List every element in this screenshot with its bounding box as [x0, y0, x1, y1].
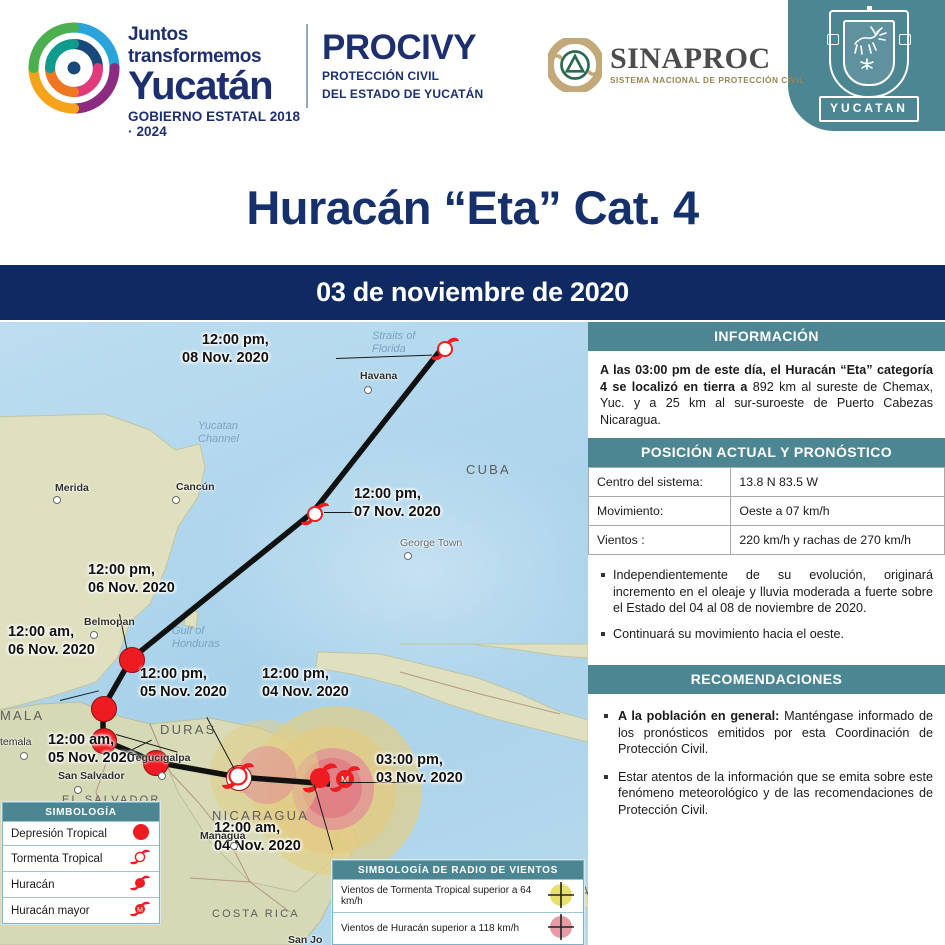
country-label-honduras: DURAS [160, 722, 217, 737]
emblem-nub-right-icon [899, 34, 911, 45]
track-label-03nov-date: 03 Nov. 2020 [376, 770, 463, 788]
tropical-storm-symbol-07nov[interactable] [298, 497, 332, 531]
gov-line1: Juntos transformemos [128, 24, 308, 68]
posicion-key-centro: Centro del sistema: [589, 468, 731, 497]
legend-simbologia-heading: SIMBOLOGÍA [3, 803, 159, 821]
city-dot-guatemala-city [20, 752, 28, 760]
info-panel: INFORMACIÓN A las 03:00 pm de este día, … [588, 322, 945, 945]
hurricane-icon [129, 872, 151, 897]
wind-radius-hurricane-icon [547, 913, 575, 944]
yucatan-government-logo [28, 22, 120, 114]
legend-radio-heading: SIMBOLOGÍA DE RADIO DE VIENTOS [333, 861, 583, 879]
svg-text:M: M [137, 907, 143, 914]
water-label-yucatan-channel: Yucatan Channel [198, 420, 239, 446]
posicion-heading: POSICIÓN ACTUAL Y PRONÓSTICO [588, 438, 945, 467]
track-label-05nov-pm: 12:00 pm, 05 Nov. 2020 [140, 666, 227, 701]
legend-row-huracan: Huracán [3, 871, 159, 897]
emblem-shield-icon [829, 10, 909, 98]
legend-row-huracan-mayor: Huracán mayor M [3, 897, 159, 923]
header-divider [306, 24, 308, 108]
sinaproc-name: SINAPROC [610, 44, 805, 74]
track-label-07nov: 12:00 pm, 07 Nov. 2020 [354, 486, 441, 521]
track-label-06nov-am-time: 12:00 am, [8, 624, 95, 642]
list-item: Estar atentos de la información que se e… [600, 769, 933, 819]
track-label-06nov-am-date: 06 Nov. 2020 [8, 642, 95, 660]
gov-line2: Yucatán [128, 65, 308, 107]
list-item: A la población en general: Manténgase in… [600, 708, 933, 758]
list-item: Independientemente de su evolución, orig… [600, 567, 933, 617]
city-dot-belmopan [90, 631, 98, 639]
legend-row-tormenta-tropical: Tormenta Tropical [3, 845, 159, 871]
recomendacion-1-bold: A la población en general: [618, 709, 779, 723]
track-label-06nov-am: 12:00 am, 06 Nov. 2020 [8, 624, 95, 659]
major-hurricane-icon: M [129, 898, 151, 923]
header: Juntos transformemos Yucatán GOBIERNO ES… [0, 0, 945, 150]
legend-radio-de-vientos: SIMBOLOGÍA DE RADIO DE VIENTOS Vientos d… [332, 860, 584, 945]
track-label-07nov-time: 12:00 pm, [354, 486, 441, 504]
track-label-05nov-pm-time: 12:00 pm, [140, 666, 227, 684]
informacion-body: A las 03:00 pm de este día, el Huracán “… [588, 351, 945, 438]
track-label-08nov-date: 08 Nov. 2020 [182, 350, 269, 368]
legend-label-depresion-tropical: Depresión Tropical [11, 823, 107, 845]
sinaproc-sub: SISTEMA NACIONAL DE PROTECCIÓN CIVIL [610, 77, 805, 85]
track-label-08nov-time: 12:00 pm, [182, 332, 269, 350]
list-item: Continuará su movimiento hacia el oeste. [600, 626, 933, 643]
major-hurricane-symbol-current[interactable]: M [326, 760, 364, 798]
city-label-san-jose: San Jo [288, 934, 322, 945]
country-label-costa-rica: COSTA RICA [212, 908, 300, 920]
city-dot-havana [364, 386, 372, 394]
emblem-deer-icon [847, 26, 887, 72]
svg-text:M: M [341, 775, 349, 786]
posicion-key-movimiento: Movimiento: [589, 497, 731, 526]
track-label-05nov-am-time: 12:00 am, [48, 732, 135, 750]
city-label-tegucigalpa: Tegucigalpa [130, 752, 190, 764]
gov-line3: GOBIERNO ESTATAL 2018 · 2024 [128, 109, 308, 139]
tropical-storm-icon [129, 846, 151, 871]
water-label-gulf-l1: Gulf of [172, 625, 220, 638]
country-label-guatemala: MALA [0, 708, 44, 723]
track-node-06nov-1200am[interactable] [91, 696, 117, 722]
city-label-guatemala-city: temala [0, 736, 32, 748]
posicion-key-vientos: Vientos : [589, 526, 731, 555]
track-label-06nov-pm-time: 12:00 pm, [88, 562, 175, 580]
emblem-nub-left-icon [827, 34, 839, 45]
recomendacion-2-text: Estar atentos de la información que se e… [618, 770, 933, 817]
water-label-yucatan-l2: Channel [198, 433, 239, 446]
city-dot-merida [53, 496, 61, 504]
country-label-nicaragua: NICARAGUA [212, 808, 309, 823]
track-label-03nov: 03:00 pm, 03 Nov. 2020 [376, 752, 463, 787]
table-row: Centro del sistema: 13.8 N 83.5 W [589, 468, 945, 497]
track-label-05nov-pm-date: 05 Nov. 2020 [140, 684, 227, 702]
posicion-value-movimiento: Oeste a 07 km/h [731, 497, 945, 526]
water-label-straits-l1: Straits of [372, 330, 415, 343]
track-label-06nov-pm: 12:00 pm, 06 Nov. 2020 [88, 562, 175, 597]
city-label-san-salvador: San Salvador [58, 770, 125, 782]
city-label-cancun: Cancún [176, 481, 215, 493]
legend-row-vientos-huracan: Vientos de Huracán superior a 118 km/h [333, 912, 583, 944]
legend-label-huracan: Huracán [11, 874, 54, 896]
posicion-table: Centro del sistema: 13.8 N 83.5 W Movimi… [588, 467, 945, 555]
page-title: Huracán “Eta” Cat. 4 [0, 150, 945, 265]
water-label-straits-of-florida: Straits of Florida [372, 330, 415, 356]
notas-body: Independientemente de su evolución, orig… [588, 555, 945, 665]
track-label-04nov-pm-time: 12:00 pm, [262, 666, 349, 684]
sinaproc-mark-icon [548, 38, 602, 92]
tropical-depression-icon [131, 822, 151, 845]
government-wordmark: Juntos transformemos Yucatán GOBIERNO ES… [128, 24, 308, 139]
water-label-straits-l2: Florida [372, 343, 415, 356]
recomendaciones-heading: RECOMENDACIONES [588, 665, 945, 694]
procivy-name: PROCIVY [322, 30, 483, 66]
track-label-04nov-pm: 12:00 pm, 04 Nov. 2020 [262, 666, 349, 701]
notas-list: Independientemente de su evolución, orig… [600, 567, 933, 642]
legend-row-depresion-tropical: Depresión Tropical [3, 821, 159, 845]
track-label-06nov-pm-date: 06 Nov. 2020 [88, 580, 175, 598]
legend-row-vientos-tormenta: Vientos de Tormenta Tropical superior a … [333, 879, 583, 912]
city-label-merida: Merida [55, 482, 89, 494]
city-label-george-town: George Town [400, 537, 462, 549]
city-label-havana: Havana [360, 370, 397, 382]
recomendaciones-body: A la población en general: Manténgase in… [588, 694, 945, 839]
procivy-sub2: DEL ESTADO DE YUCATÁN [322, 87, 483, 102]
leader-07nov [324, 512, 358, 513]
table-row: Movimiento: Oeste a 07 km/h [589, 497, 945, 526]
table-row: Vientos : 220 km/h y rachas de 270 km/h [589, 526, 945, 555]
city-dot-san-salvador [74, 786, 82, 794]
tropical-storm-symbol-04nov[interactable] [218, 756, 258, 796]
procivy-wordmark: PROCIVY PROTECCIÓN CIVIL DEL ESTADO DE Y… [322, 30, 483, 102]
country-label-cuba: CUBA [466, 462, 511, 477]
track-label-05nov-am: 12:00 am, 05 Nov. 2020 [48, 732, 135, 767]
tropical-storm-symbol-08nov[interactable] [428, 332, 462, 366]
water-label-gulf-l2: Honduras [172, 638, 220, 651]
water-label-gulf-of-honduras: Gulf of Honduras [172, 625, 220, 651]
track-label-03nov-time: 03:00 pm, [376, 752, 463, 770]
city-label-managua: Managua [200, 830, 246, 842]
infographic-page: Juntos transformemos Yucatán GOBIERNO ES… [0, 0, 945, 945]
track-label-08nov: 12:00 pm, 08 Nov. 2020 [182, 332, 269, 367]
procivy-sub1: PROTECCIÓN CIVIL [322, 69, 483, 84]
city-dot-george-town [404, 552, 412, 560]
legend-label-tormenta-tropical: Tormenta Tropical [11, 848, 102, 870]
emblem-banner-label: YUCATAN [819, 96, 919, 122]
sinaproc-logo: SINAPROC SISTEMA NACIONAL DE PROTECCIÓN … [548, 38, 805, 92]
wind-radius-storm-icon [547, 881, 575, 912]
date-banner: 03 de noviembre de 2020 [0, 265, 945, 320]
track-label-07nov-date: 07 Nov. 2020 [354, 504, 441, 522]
track-label-05nov-am-date: 05 Nov. 2020 [48, 750, 135, 768]
yucatan-state-emblem: YUCATAN [817, 8, 917, 128]
hurricane-track-map[interactable]: M 12:00 pm, 08 Nov. 2020 12:00 pm, 07 No… [0, 322, 588, 945]
recomendaciones-list: A la población en general: Manténgase in… [600, 708, 933, 818]
city-dot-cancun [172, 496, 180, 504]
city-dot-managua [230, 842, 238, 850]
legend-label-vientos-huracan: Vientos de Huracán superior a 118 km/h [341, 918, 519, 939]
legend-simbologia: SIMBOLOGÍA Depresión Tropical Tormenta T… [2, 802, 160, 924]
track-label-04nov-pm-date: 04 Nov. 2020 [262, 684, 349, 702]
city-label-belmopan: Belmopan [84, 616, 135, 628]
legend-label-vientos-tormenta: Vientos de Tormenta Tropical superior a … [341, 880, 547, 912]
posicion-value-centro: 13.8 N 83.5 W [731, 468, 945, 497]
water-label-yucatan-l1: Yucatan [198, 420, 239, 433]
city-dot-tegucigalpa [158, 772, 166, 780]
posicion-value-vientos: 220 km/h y rachas de 270 km/h [731, 526, 945, 555]
informacion-heading: INFORMACIÓN [588, 322, 945, 351]
legend-label-huracan-mayor: Huracán mayor [11, 900, 90, 922]
